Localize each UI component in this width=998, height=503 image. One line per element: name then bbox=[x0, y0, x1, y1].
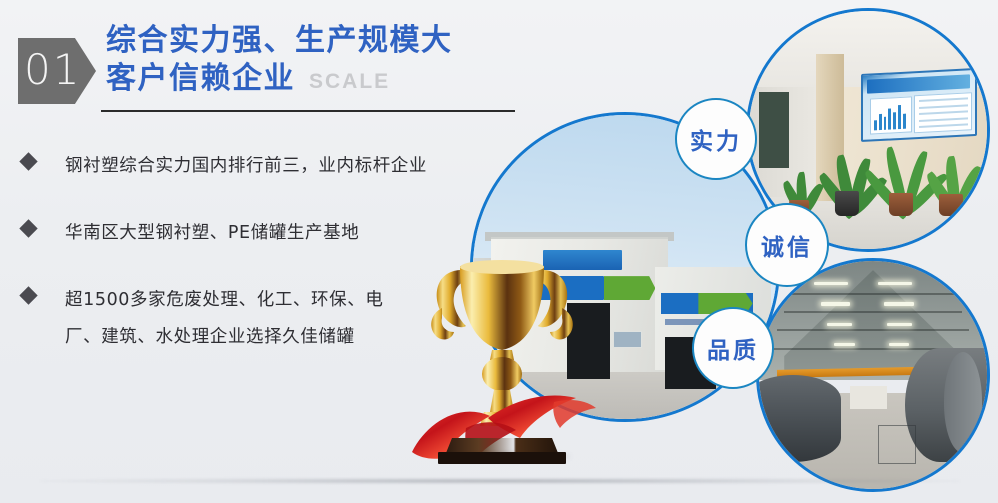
workshop-far-wall bbox=[850, 386, 886, 409]
list-item-text: 钢衬塑综合实力国内排行前三，业内标杆企业 bbox=[65, 148, 427, 185]
title-divider bbox=[101, 110, 515, 112]
info-board-text bbox=[914, 92, 972, 133]
storage-tank-left bbox=[756, 375, 841, 462]
keyword-bubble-integrity[interactable]: 诚信 bbox=[745, 203, 829, 287]
list-item-line-1: 华南区大型钢衬塑、PE储罐生产基地 bbox=[65, 223, 359, 243]
diamond-bullet-icon bbox=[19, 219, 37, 237]
factory-window-left bbox=[613, 331, 642, 348]
list-item: 华南区大型钢衬塑、PE储罐生产基地 bbox=[22, 215, 472, 252]
workshop-interior-image bbox=[759, 261, 987, 489]
list-item-line-1: 超1500多家危废处理、化工、环保、电 bbox=[65, 290, 383, 310]
banner-ground-shadow bbox=[40, 478, 960, 484]
info-board-chart bbox=[870, 96, 912, 134]
list-item-text: 华南区大型钢衬塑、PE储罐生产基地 bbox=[65, 215, 359, 252]
title-line-2: 客户信赖企业 bbox=[106, 60, 295, 98]
keyword-bubble-strength[interactable]: 实力 bbox=[675, 98, 757, 180]
title-line-1: 综合实力强、生产规模大 bbox=[106, 22, 536, 60]
list-item-line-1: 钢衬塑综合实力国内排行前三，业内标杆企业 bbox=[65, 156, 427, 176]
storage-tank-end-cap bbox=[944, 352, 983, 452]
list-item-text: 超1500多家危废处理、化工、环保、电 厂、建筑、水处理企业选择久佳储罐 bbox=[65, 282, 383, 356]
access-ladder bbox=[878, 425, 916, 463]
page-title: 综合实力强、生产规模大 客户信赖企业 SCALE bbox=[106, 22, 536, 101]
award-trophy-icon bbox=[404, 252, 600, 464]
high-tech-sign-arrow bbox=[604, 276, 656, 300]
diamond-bullet-icon bbox=[19, 286, 37, 304]
list-item: 钢衬塑综合实力国内排行前三，业内标杆企业 bbox=[22, 148, 472, 185]
diamond-bullet-icon bbox=[19, 152, 37, 170]
title-english-subtitle: SCALE bbox=[309, 63, 390, 101]
list-item-line-2: 厂、建筑、水处理企业选择久佳储罐 bbox=[65, 319, 383, 356]
photo-workshop-interior bbox=[756, 258, 990, 492]
office-plant bbox=[925, 140, 977, 216]
section-number-badge: 01 bbox=[18, 38, 96, 104]
office-plant bbox=[873, 130, 930, 216]
keyword-bubble-quality[interactable]: 品质 bbox=[692, 307, 774, 389]
info-board-header bbox=[867, 74, 970, 94]
title-line-2-row: 客户信赖企业 SCALE bbox=[106, 60, 536, 101]
promo-banner: 01 综合实力强、生产规模大 客户信赖企业 SCALE 钢衬塑综合实力国内排行前… bbox=[0, 0, 998, 503]
